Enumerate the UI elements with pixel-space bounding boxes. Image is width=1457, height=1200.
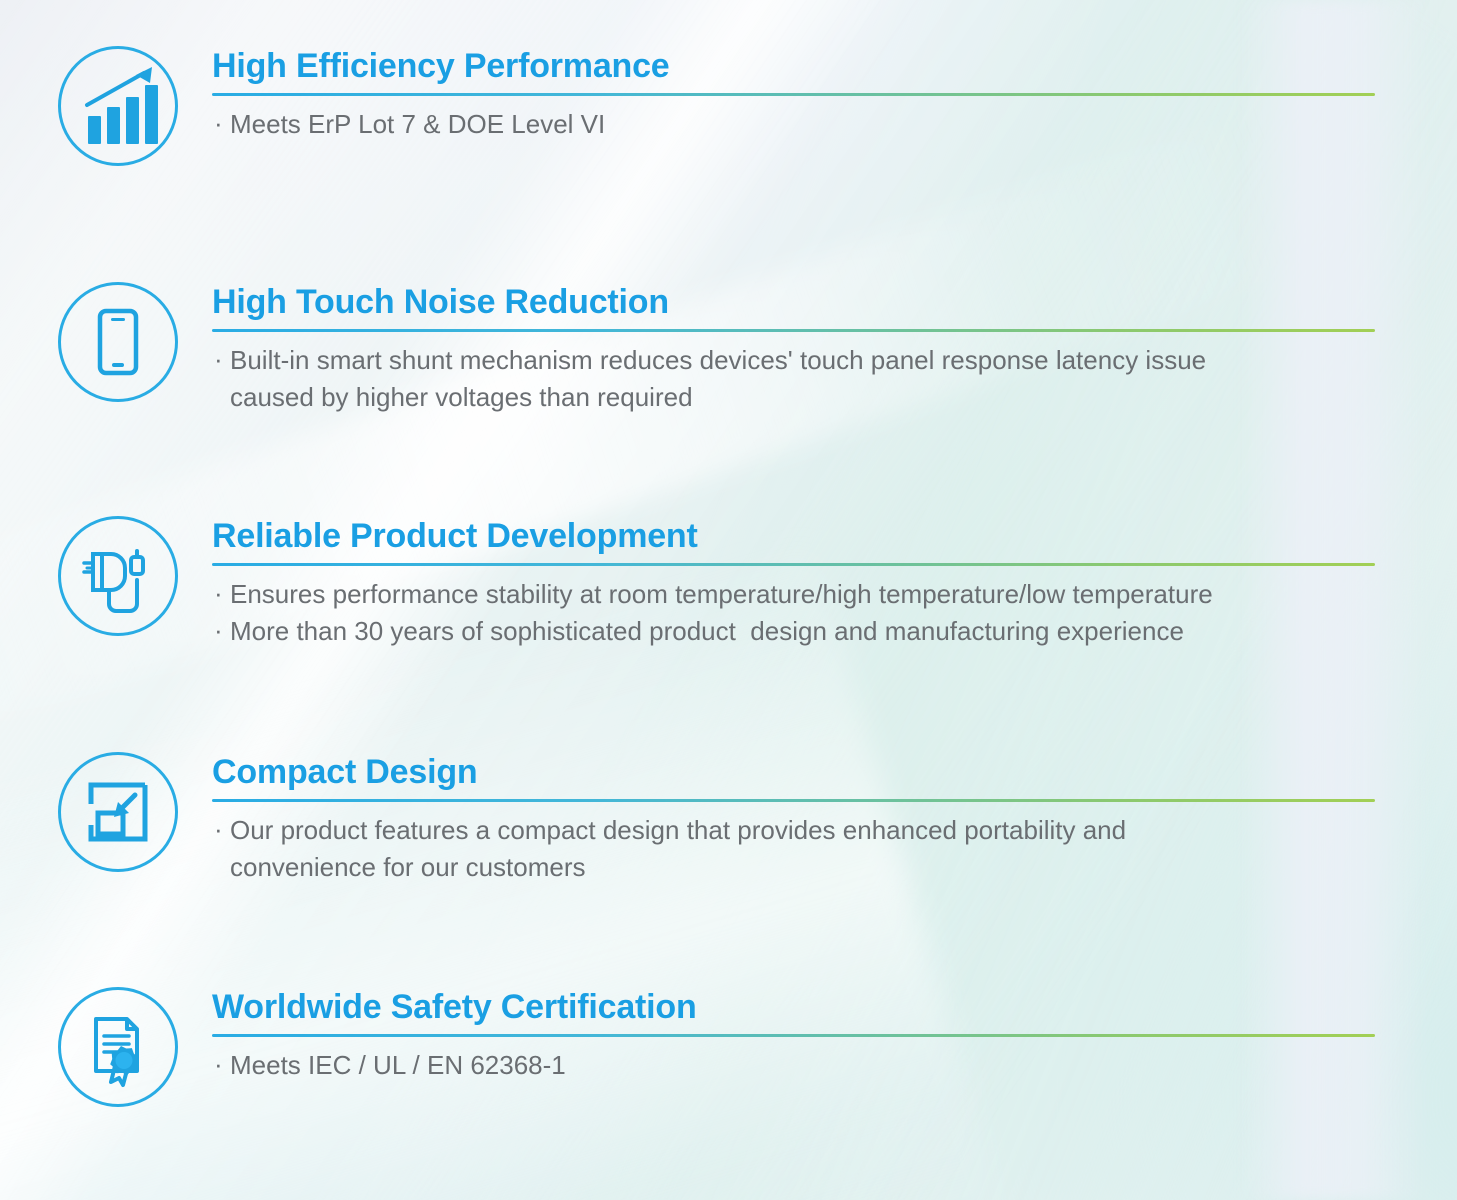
feature-bullet: More than 30 years of sophisticated prod…	[212, 613, 1457, 650]
feature-title: High Touch Noise Reduction	[212, 283, 1457, 321]
bar-chart-growth-icon	[57, 45, 179, 167]
feature-divider-rule	[212, 329, 1375, 332]
feature-bullet: Built-in smart shunt mechanism reduces d…	[212, 342, 1457, 416]
certificate-award-icon	[57, 986, 179, 1108]
feature-title: Worldwide Safety Certification	[212, 988, 1457, 1026]
feature-bullet: Ensures performance stability at room te…	[212, 576, 1457, 613]
feature-title: High Efficiency Performance	[212, 47, 1457, 85]
feature-text-block: Reliable Product Development Ensures per…	[212, 515, 1457, 650]
compact-resize-icon	[57, 751, 179, 873]
feature-icon-container	[57, 751, 179, 873]
feature-divider-rule	[212, 799, 1375, 802]
feature-divider-rule	[212, 93, 1375, 96]
feature-bullet-list: Built-in smart shunt mechanism reduces d…	[212, 342, 1457, 416]
feature-highlights-page: High Efficiency Performance Meets ErP Lo…	[0, 0, 1457, 1200]
feature-title: Compact Design	[212, 753, 1457, 791]
feature-icon-container	[57, 986, 179, 1108]
feature-list: High Efficiency Performance Meets ErP Lo…	[0, 0, 1457, 1200]
feature-bullet-list: Ensures performance stability at room te…	[212, 576, 1457, 650]
feature-item-high-touch-noise-reduction: High Touch Noise Reduction Built-in smar…	[0, 281, 1457, 416]
feature-bullet: Meets IEC / UL / EN 62368-1	[212, 1047, 1457, 1084]
power-adapter-icon	[57, 515, 179, 637]
feature-divider-rule	[212, 1034, 1375, 1037]
feature-item-high-efficiency-performance: High Efficiency Performance Meets ErP Lo…	[0, 45, 1457, 167]
feature-icon-container	[57, 45, 179, 167]
feature-bullet-list: Meets ErP Lot 7 & DOE Level VI	[212, 106, 1457, 143]
feature-bullet-list: Our product features a compact design th…	[212, 812, 1457, 886]
feature-text-block: Worldwide Safety Certification Meets IEC…	[212, 986, 1457, 1084]
feature-item-reliable-product-development: Reliable Product Development Ensures per…	[0, 515, 1457, 650]
feature-icon-container	[57, 515, 179, 637]
feature-item-compact-design: Compact Design Our product features a co…	[0, 751, 1457, 886]
feature-bullet-list: Meets IEC / UL / EN 62368-1	[212, 1047, 1457, 1084]
smartphone-icon	[57, 281, 179, 403]
feature-text-block: High Touch Noise Reduction Built-in smar…	[212, 281, 1457, 416]
feature-text-block: Compact Design Our product features a co…	[212, 751, 1457, 886]
feature-title: Reliable Product Development	[212, 517, 1457, 555]
feature-bullet: Our product features a compact design th…	[212, 812, 1457, 886]
feature-item-worldwide-safety-certification: Worldwide Safety Certification Meets IEC…	[0, 986, 1457, 1108]
feature-divider-rule	[212, 563, 1375, 566]
feature-icon-container	[57, 281, 179, 403]
feature-text-block: High Efficiency Performance Meets ErP Lo…	[212, 45, 1457, 143]
feature-bullet: Meets ErP Lot 7 & DOE Level VI	[212, 106, 1457, 143]
